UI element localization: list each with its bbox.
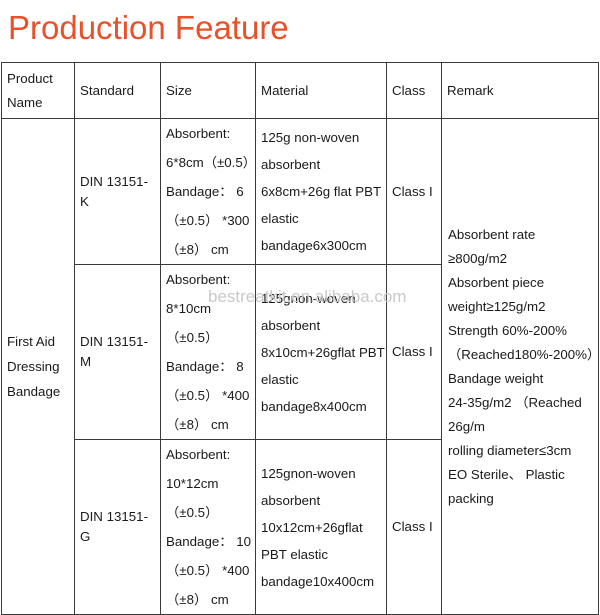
header-label-size: Size	[161, 79, 255, 103]
page-title: Production Feature	[8, 6, 568, 50]
header-label-standard: Standard	[75, 79, 160, 103]
table-header-row: Product Name Standard Size Material Clas…	[2, 63, 599, 119]
cell-remark: Absorbent rate ≥800g/m2 Absorbent piece …	[442, 119, 599, 615]
value-class-row-1: Class I	[387, 182, 441, 202]
cell-material-row-2: 125gnon-woven absorbent 8x10cm+26gflat P…	[256, 265, 387, 440]
cell-size-row-2: Absorbent: 8*10cm （±0.5） Bandage： 8 （±0.…	[161, 265, 256, 440]
header-label-product-name: Product Name	[2, 67, 74, 115]
table-row: First Aid Dressing Bandage DIN 13151-K A…	[2, 119, 599, 265]
value-standard-row-1: DIN 13151-K	[75, 172, 160, 212]
value-class-row-2: Class I	[387, 342, 441, 362]
value-class-row-3: Class I	[387, 517, 441, 537]
header-label-class: Class	[387, 79, 441, 103]
cell-product-name: First Aid Dressing Bandage	[2, 119, 75, 615]
cell-material-row-3: 125gnon-woven absorbent 10x12cm+26gflat …	[256, 440, 387, 615]
value-standard-row-2: DIN 13151-M	[75, 332, 160, 372]
header-cell-class: Class	[387, 63, 442, 119]
production-feature-table: Product Name Standard Size Material Clas…	[1, 62, 599, 615]
cell-size-row-3: Absorbent: 10*12cm （±0.5） Bandage： 10 （±…	[161, 440, 256, 615]
header-cell-material: Material	[256, 63, 387, 119]
value-material-row-2: 125gnon-woven absorbent 8x10cm+26gflat P…	[256, 285, 386, 420]
cell-material-row-1: 125g non-woven absorbent 6x8cm+26g flat …	[256, 119, 387, 265]
value-material-row-3: 125gnon-woven absorbent 10x12cm+26gflat …	[256, 460, 386, 595]
cell-class-row-2: Class I	[387, 265, 442, 440]
header-label-remark: Remark	[442, 79, 598, 103]
value-standard-row-3: DIN 13151-G	[75, 507, 160, 547]
cell-standard-row-3: DIN 13151-G	[75, 440, 161, 615]
cell-class-row-3: Class I	[387, 440, 442, 615]
value-size-row-2: Absorbent: 8*10cm （±0.5） Bandage： 8 （±0.…	[161, 265, 255, 439]
cell-standard-row-2: DIN 13151-M	[75, 265, 161, 440]
cell-size-row-1: Absorbent: 6*8cm（±0.5） Bandage： 6 （±0.5）…	[161, 119, 256, 265]
spec-table-container: Product Name Standard Size Material Clas…	[1, 62, 598, 535]
cell-class-row-1: Class I	[387, 119, 442, 265]
header-cell-product-name: Product Name	[2, 63, 75, 119]
header-cell-remark: Remark	[442, 63, 599, 119]
value-size-row-3: Absorbent: 10*12cm （±0.5） Bandage： 10 （±…	[161, 440, 255, 614]
value-size-row-1: Absorbent: 6*8cm（±0.5） Bandage： 6 （±0.5）…	[161, 119, 255, 264]
header-cell-standard: Standard	[75, 63, 161, 119]
value-material-row-1: 125g non-woven absorbent 6x8cm+26g flat …	[256, 124, 386, 259]
page-root: Production Feature Product Name Standard	[0, 0, 600, 600]
value-remark: Absorbent rate ≥800g/m2 Absorbent piece …	[442, 223, 598, 511]
header-cell-size: Size	[161, 63, 256, 119]
cell-standard-row-1: DIN 13151-K	[75, 119, 161, 265]
header-label-material: Material	[256, 79, 386, 103]
value-product-name: First Aid Dressing Bandage	[2, 329, 74, 404]
